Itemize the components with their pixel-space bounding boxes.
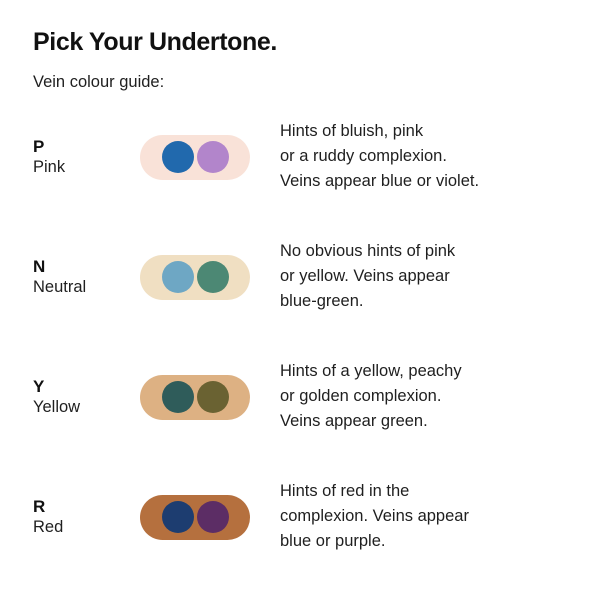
undertone-letter: R: [33, 496, 105, 517]
undertone-letter: P: [33, 136, 105, 157]
undertone-name: Red: [33, 517, 105, 538]
undertone-name: Pink: [33, 157, 105, 178]
undertone-row-red: R Red Hints of red in the complexion. Ve…: [0, 475, 600, 595]
violet-vein-dot: [197, 141, 229, 173]
description-line: complexion. Veins appear: [280, 504, 600, 529]
undertone-row-list: P Pink Hints of bluish, pink or a ruddy …: [0, 115, 600, 595]
undertone-name: Neutral: [33, 277, 105, 298]
undertone-swatch-pink: [105, 120, 280, 195]
purple-vein-dot: [197, 501, 229, 533]
undertone-description-neutral: No obvious hints of pink or yellow. Vein…: [280, 235, 600, 314]
undertone-description-red: Hints of red in the complexion. Veins ap…: [280, 475, 600, 554]
olive-vein-dot: [197, 381, 229, 413]
undertone-letter: Y: [33, 376, 105, 397]
skin-capsule-pink: [140, 135, 250, 180]
skin-capsule-yellow: [140, 375, 250, 420]
sea-green-vein-dot: [197, 261, 229, 293]
undertone-swatch-yellow: [105, 360, 280, 435]
description-line: Veins appear blue or violet.: [280, 169, 600, 194]
undertone-description-yellow: Hints of a yellow, peachy or golden comp…: [280, 355, 600, 434]
undertone-label-neutral: N Neutral: [0, 240, 105, 315]
description-line: Hints of a yellow, peachy: [280, 359, 600, 384]
undertone-guide-page: Pick Your Undertone. Vein colour guide: …: [0, 0, 600, 600]
description-line: Hints of bluish, pink: [280, 119, 600, 144]
blue-vein-dot: [162, 141, 194, 173]
description-line: Veins appear green.: [280, 409, 600, 434]
description-line: No obvious hints of pink: [280, 239, 600, 264]
skin-capsule-red: [140, 495, 250, 540]
undertone-row-neutral: N Neutral No obvious hints of pink or ye…: [0, 235, 600, 355]
undertone-row-yellow: Y Yellow Hints of a yellow, peachy or go…: [0, 355, 600, 475]
description-line: or yellow. Veins appear: [280, 264, 600, 289]
description-line: blue-green.: [280, 289, 600, 314]
navy-vein-dot: [162, 501, 194, 533]
undertone-row-pink: P Pink Hints of bluish, pink or a ruddy …: [0, 115, 600, 235]
undertone-name: Yellow: [33, 397, 105, 418]
page-title: Pick Your Undertone.: [33, 28, 600, 57]
undertone-swatch-neutral: [105, 240, 280, 315]
description-line: Hints of red in the: [280, 479, 600, 504]
undertone-letter: N: [33, 256, 105, 277]
undertone-label-pink: P Pink: [0, 120, 105, 195]
undertone-label-yellow: Y Yellow: [0, 360, 105, 435]
description-line: or golden complexion.: [280, 384, 600, 409]
description-line: or a ruddy complexion.: [280, 144, 600, 169]
description-line: blue or purple.: [280, 529, 600, 554]
skin-capsule-neutral: [140, 255, 250, 300]
dark-teal-vein-dot: [162, 381, 194, 413]
steel-blue-vein-dot: [162, 261, 194, 293]
undertone-label-red: R Red: [0, 480, 105, 555]
undertone-swatch-red: [105, 480, 280, 555]
page-header: Pick Your Undertone. Vein colour guide:: [0, 0, 600, 93]
undertone-description-pink: Hints of bluish, pink or a ruddy complex…: [280, 115, 600, 194]
page-subtitle: Vein colour guide:: [33, 73, 600, 93]
